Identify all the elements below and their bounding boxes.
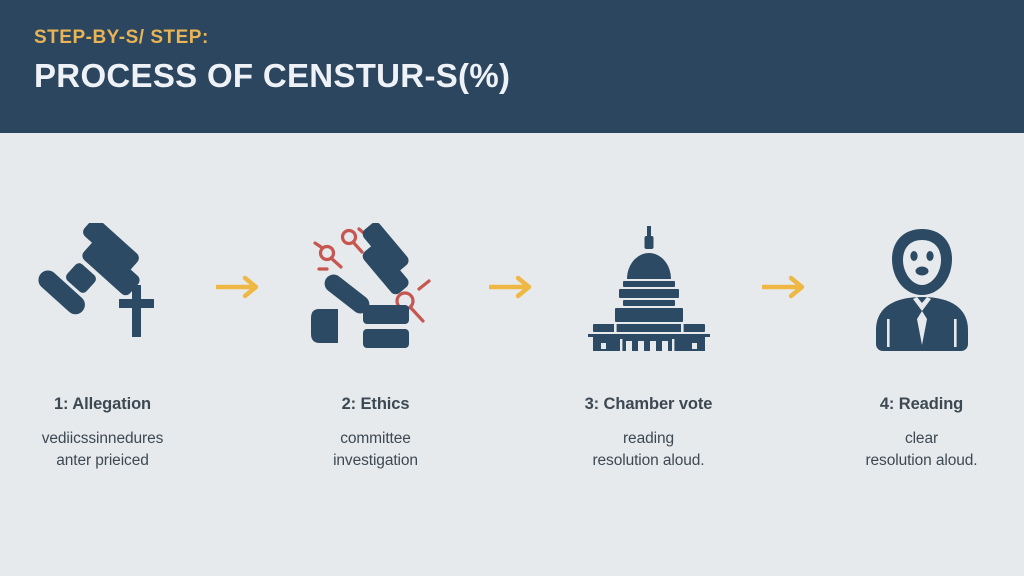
step-description: clear resolution aloud.: [865, 428, 977, 472]
page-title: PROCESS OF CENSTUR-S(%): [34, 58, 510, 94]
step-1: 1: Allegation vediicssinnedures anter pr…: [0, 133, 205, 472]
arrow-right-1-icon: [205, 133, 273, 354]
step-description-line: clear: [865, 428, 977, 450]
person-suit-icon: [842, 219, 1002, 354]
step-4: 4: Reading clear resolution aloud.: [819, 133, 1024, 472]
process-steps: 1: Allegation vediicssinnedures anter pr…: [0, 133, 1024, 576]
slide-header: STEP-BY-S/ STEP: PROCESS OF CENSTUR-S(%): [0, 0, 1024, 133]
step-description-line: resolution aloud.: [865, 450, 977, 472]
step-title: 1: Allegation: [54, 394, 151, 415]
step-description-line: committee: [333, 428, 418, 450]
arrow-right-3-icon: [751, 133, 819, 354]
step-3: 3: Chamber vote reading resolution aloud…: [546, 133, 751, 472]
capitol-building-icon: [569, 219, 729, 354]
step-description: committee investigation: [333, 428, 418, 472]
step-2: 2: Ethics committee investigation: [273, 133, 478, 472]
step-title: 3: Chamber vote: [585, 394, 713, 415]
step-description-line: reading: [592, 428, 704, 450]
header-eyebrow: STEP-BY-S/ STEP:: [34, 28, 510, 49]
slide-root: STEP-BY-S/ STEP: PROCESS OF CENSTUR-S(%): [0, 0, 1024, 576]
step-title: 2: Ethics: [342, 394, 410, 415]
step-description-line: resolution aloud.: [592, 450, 704, 472]
arrow-right-2-icon: [478, 133, 546, 354]
gavel-cross-icon: [23, 219, 183, 354]
header-text-block: STEP-BY-S/ STEP: PROCESS OF CENSTUR-S(%): [34, 28, 510, 94]
step-description-line: investigation: [333, 450, 418, 472]
step-description: vediicssinnedures anter prieiced: [42, 428, 164, 472]
step-title: 4: Reading: [880, 394, 963, 415]
step-description: reading resolution aloud.: [592, 428, 704, 472]
step-description-line: anter prieiced: [42, 450, 164, 472]
gavel-magnifier-icon: [296, 219, 456, 354]
step-description-line: vediicssinnedures: [42, 428, 164, 450]
